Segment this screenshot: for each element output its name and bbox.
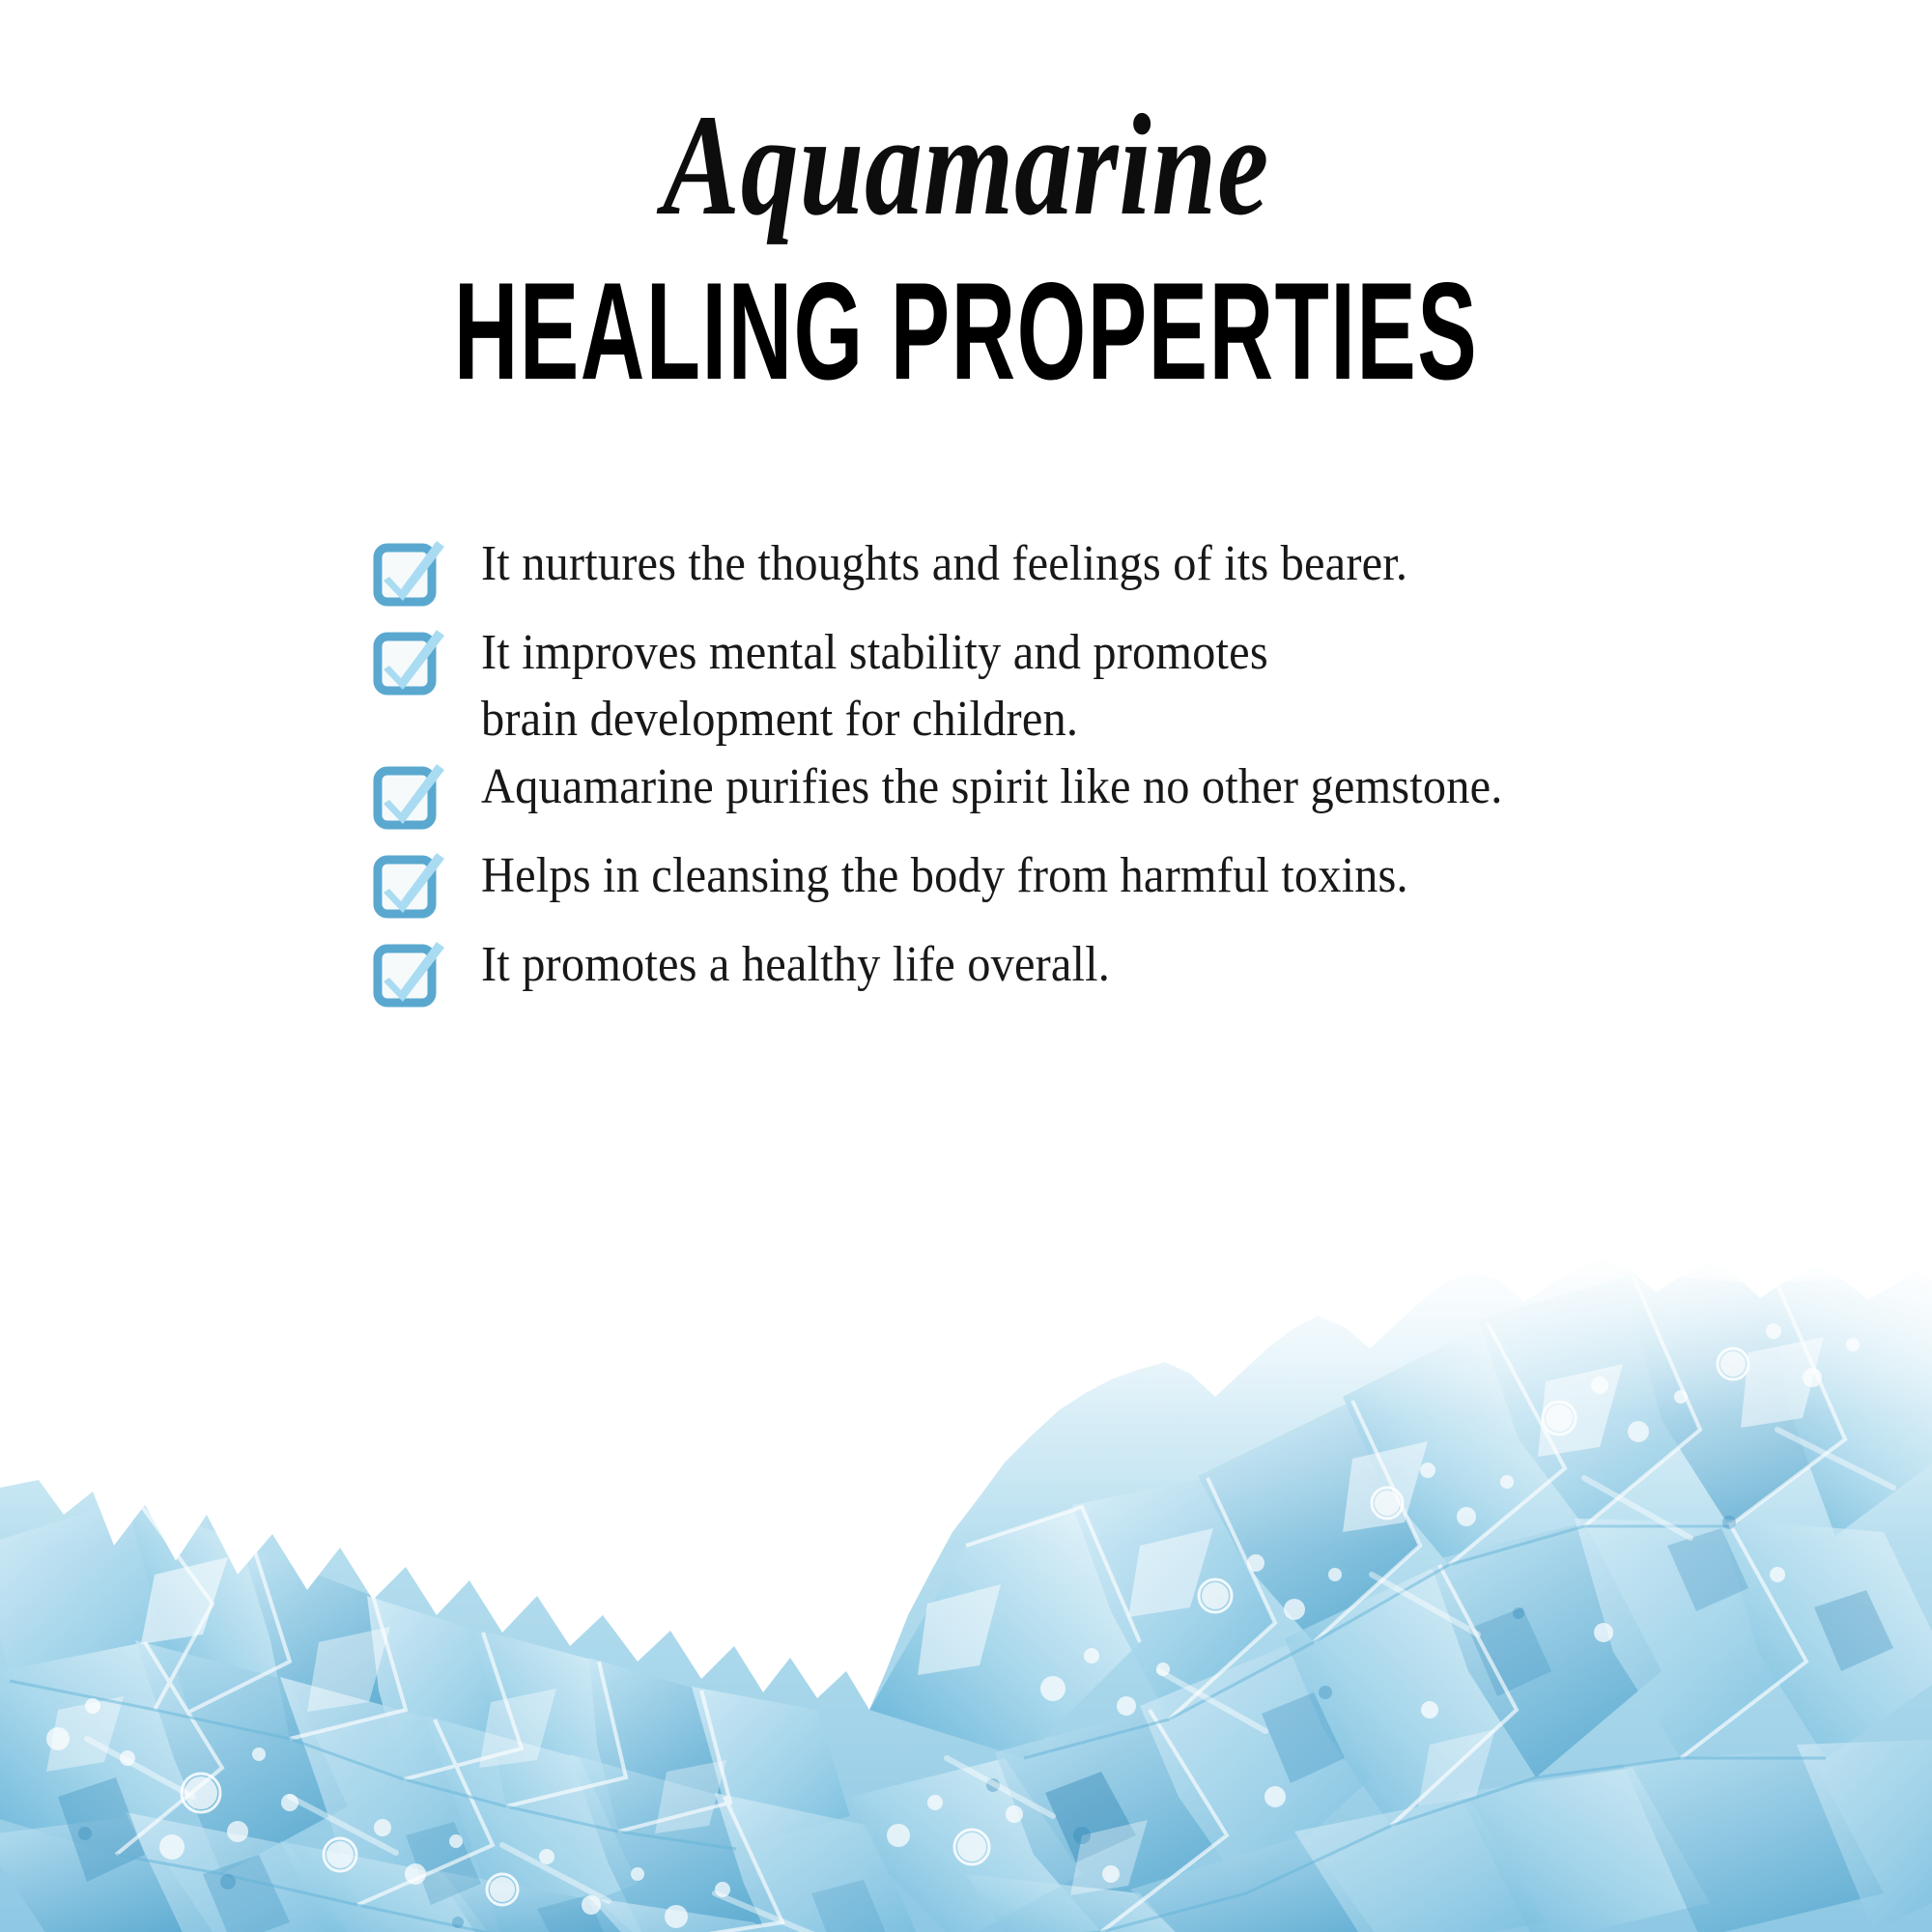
checked-checkbox-icon[interactable] [373,760,446,834]
poster-header: Aquamarine HEALING PROPERTIES [0,0,1932,394]
checkbox-cell [373,930,481,1011]
list-item-line: It nurtures the thoughts and feelings of… [481,531,1710,598]
list-item-text: It nurtures the thoughts and feelings of… [481,529,1710,598]
list-item-text: It promotes a healthy life overall. [481,930,1710,999]
checked-checkbox-icon[interactable] [373,626,446,699]
list-item: Helps in cleansing the body from harmful… [373,841,1803,930]
checked-checkbox-icon[interactable] [373,938,446,1011]
list-item-line: It promotes a healthy life overall. [481,932,1710,999]
list-item: It nurtures the thoughts and feelings of… [373,529,1803,618]
checked-checkbox-icon[interactable] [373,537,446,611]
list-item-text: Helps in cleansing the body from harmful… [481,841,1710,910]
page-title-script: Aquamarine [193,93,1739,238]
list-item: Aquamarine purifies the spirit like no o… [373,753,1803,841]
page-subtitle: HEALING PROPERTIES [270,263,1662,401]
list-item: It promotes a healthy life overall. [373,930,1803,1019]
poster-canvas: Aquamarine HEALING PROPERTIES It nurture… [0,0,1932,1932]
list-item-text: Aquamarine purifies the spirit like no o… [481,753,1710,821]
checkbox-cell [373,753,481,834]
checkbox-cell [373,529,481,611]
list-item-text: It improves mental stability and promote… [481,618,1710,753]
checkbox-cell [373,618,481,699]
list-item-line: Helps in cleansing the body from harmful… [481,843,1710,910]
list-item-line: It improves mental stability and promote… [481,620,1710,687]
list-item: It improves mental stability and promote… [373,618,1803,753]
list-item-line: brain development for children. [481,687,1710,753]
list-item-line: Aquamarine purifies the spirit like no o… [481,754,1710,821]
ice-photo [0,1256,1932,1932]
ice-illustration [0,1256,1932,1932]
healing-properties-list: It nurtures the thoughts and feelings of… [373,529,1803,1019]
checkbox-cell [373,841,481,923]
checked-checkbox-icon[interactable] [373,849,446,923]
